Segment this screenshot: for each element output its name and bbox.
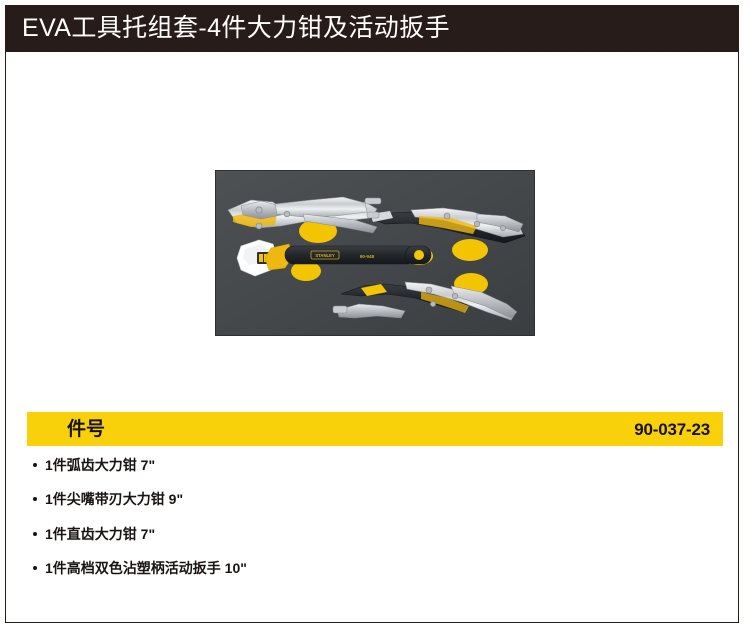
part-number-value: 90-037-23 bbox=[634, 421, 723, 438]
spec-text: 1件尖嘴带刃大力钳 9" bbox=[45, 491, 183, 507]
bullet-icon bbox=[33, 566, 37, 570]
product-photo-svg: STANLEY 90-948 bbox=[215, 170, 535, 336]
list-item: 1件弧齿大力钳 7" bbox=[33, 458, 673, 473]
wrench-model-label: 90-948 bbox=[360, 254, 375, 259]
wrench-brand-label: STANLEY bbox=[315, 253, 334, 258]
title-bar: EVA工具托组套-4件大力钳及活动扳手 bbox=[5, 5, 739, 52]
list-item: 1件直齿大力钳 7" bbox=[33, 527, 673, 542]
bullet-icon bbox=[33, 532, 37, 536]
spec-text: 1件弧齿大力钳 7" bbox=[45, 457, 155, 473]
part-number-bar: 件号 90-037-23 bbox=[27, 412, 723, 446]
bullet-icon bbox=[33, 463, 37, 467]
page-title: EVA工具托组套-4件大力钳及活动扳手 bbox=[5, 16, 450, 41]
spec-text: 1件直齿大力钳 7" bbox=[45, 526, 155, 542]
part-number-label: 件号 bbox=[27, 420, 105, 439]
bullet-icon bbox=[33, 497, 37, 501]
product-image: STANLEY 90-948 bbox=[215, 170, 535, 336]
spec-text: 1件高档双色沾塑柄活动扳手 10" bbox=[45, 560, 247, 576]
spec-list: 1件弧齿大力钳 7" 1件尖嘴带刃大力钳 9" 1件直齿大力钳 7" 1件高档双… bbox=[33, 458, 673, 596]
product-spec-page: EVA工具托组套-4件大力钳及活动扳手 bbox=[0, 0, 750, 632]
list-item: 1件高档双色沾塑柄活动扳手 10" bbox=[33, 561, 673, 576]
list-item: 1件尖嘴带刃大力钳 9" bbox=[33, 492, 673, 507]
